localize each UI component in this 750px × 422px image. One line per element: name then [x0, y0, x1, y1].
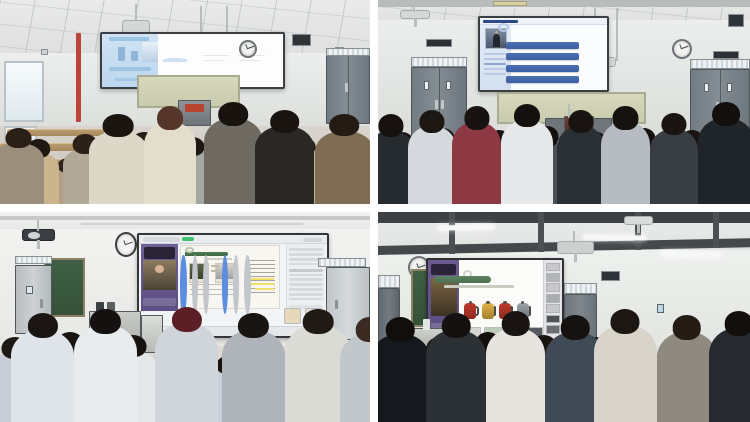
meeting-app [139, 235, 327, 336]
fire-extinguisher-4 [517, 299, 529, 320]
slide-label-chip [109, 67, 151, 71]
fire-safety-scene [378, 212, 750, 422]
door-transom [690, 59, 750, 69]
projector-rod [37, 220, 39, 231]
window [4, 61, 45, 122]
desk-row [609, 355, 676, 363]
fire-extinguisher-1 [464, 299, 476, 320]
wall-plate [41, 49, 48, 55]
lecture-hall-scene [0, 0, 370, 204]
ceiling-beam-vertical [538, 212, 544, 252]
collage-photo-top-right[interactable] [378, 0, 750, 204]
desk-row [378, 139, 419, 147]
slide-section-tab [435, 276, 491, 282]
teacher-console [411, 328, 456, 353]
floor [378, 135, 750, 204]
meeting-badge [143, 237, 181, 242]
projection-screen[interactable] [137, 233, 329, 338]
wall-clock [115, 232, 137, 257]
projector-rod [573, 231, 575, 244]
ceiling-beam-vertical [713, 212, 719, 248]
hanger-rod [616, 8, 618, 61]
door-transom [411, 57, 467, 67]
slide-bullet-4 [506, 76, 579, 83]
collage-photo-bottom-right[interactable] [378, 212, 750, 422]
slide-bar [118, 47, 125, 60]
doc-node-label [211, 270, 220, 272]
door-transom [564, 283, 597, 294]
window-transom [378, 275, 400, 288]
water-dispenser [724, 131, 746, 143]
water-bottle [423, 319, 430, 330]
doc-subtitle [207, 258, 232, 260]
collage-photo-top-left[interactable] [0, 0, 370, 204]
slide-bullet-1 [506, 42, 579, 49]
ceiling-beam-vertical [449, 212, 455, 254]
wall-clock [239, 40, 258, 58]
wall-switch[interactable] [657, 304, 664, 312]
projector-secondary [624, 216, 654, 224]
window-controls[interactable] [303, 238, 322, 242]
wall-sign [713, 51, 739, 59]
participants-control[interactable] [222, 255, 228, 314]
ceiling-light [437, 224, 493, 230]
lectern-screen [185, 104, 204, 112]
ceiling-beam [378, 212, 750, 223]
wall-speaker [728, 14, 745, 26]
projector-lens [28, 232, 40, 239]
desk-row [378, 155, 411, 163]
ceiling-rail [378, 0, 750, 7]
slide-sidebar-thumbs[interactable] [543, 260, 562, 340]
participant-panel[interactable] [286, 244, 326, 313]
fire-extinguisher-3 [499, 299, 511, 320]
participant-thumbnail[interactable] [284, 308, 301, 324]
projector-rod [413, 6, 415, 12]
desk-row [7, 129, 103, 136]
doc-node-label [211, 265, 220, 267]
water-bottle [107, 302, 114, 315]
participant-thumbnail[interactable] [305, 308, 322, 324]
collage-photo-bottom-left[interactable] [0, 212, 370, 422]
ceiling-strip [0, 216, 370, 219]
doc-highlight [251, 278, 274, 280]
wall-pipe [76, 33, 81, 123]
slide-text-line [239, 60, 261, 62]
slide-subtitle [444, 285, 513, 288]
speaker-panel [141, 244, 179, 311]
doc-seal [185, 247, 194, 253]
slide-title-chip [109, 37, 149, 41]
slide-content [480, 18, 606, 89]
desk-row [627, 147, 694, 155]
door-transom [15, 256, 52, 264]
meeting-toolbar[interactable] [139, 326, 327, 336]
wall-sign [426, 39, 452, 47]
classroom-door[interactable] [564, 294, 597, 353]
door-transom [326, 48, 370, 56]
doc-highlight [251, 283, 274, 285]
mic-control[interactable] [180, 255, 186, 314]
slide-text-line [203, 60, 225, 62]
classroom-door-left[interactable] [15, 265, 52, 334]
classroom-door-right[interactable] [326, 267, 370, 341]
ceiling-label [493, 1, 526, 6]
desk-row [0, 143, 89, 151]
teacher-console [89, 311, 141, 353]
live-indicator [182, 237, 193, 241]
wall-speaker [292, 34, 311, 46]
online-lecture-scene [0, 212, 370, 422]
projection-screen[interactable] [478, 16, 608, 91]
side-door[interactable] [378, 288, 400, 355]
desk-row [415, 359, 475, 367]
lectern [564, 116, 594, 143]
projector [122, 20, 150, 32]
desk-row [303, 351, 370, 359]
door-transom [318, 258, 366, 266]
console-pc [141, 315, 163, 353]
mic-stand [568, 104, 570, 118]
classroom-door-left[interactable] [411, 67, 467, 140]
water-bottle [96, 302, 103, 315]
more-control[interactable] [244, 255, 250, 314]
fire-extinguisher-2 [482, 299, 494, 320]
slide-thumbnail-row [463, 327, 543, 338]
photo-collage [0, 0, 750, 422]
slide-bullet-2 [506, 53, 579, 60]
ceiling-strip [81, 223, 303, 226]
exit-door[interactable] [326, 55, 370, 124]
slide-bullet-3 [506, 65, 579, 72]
desk-row [215, 363, 311, 374]
slide-bar [131, 51, 138, 61]
camera-control[interactable] [192, 255, 198, 314]
wall-speaker [601, 271, 620, 282]
desk-row [0, 159, 67, 168]
classroom-scene [378, 0, 750, 204]
slide-graphic-dome [163, 58, 187, 62]
doc-highlight [255, 288, 275, 290]
